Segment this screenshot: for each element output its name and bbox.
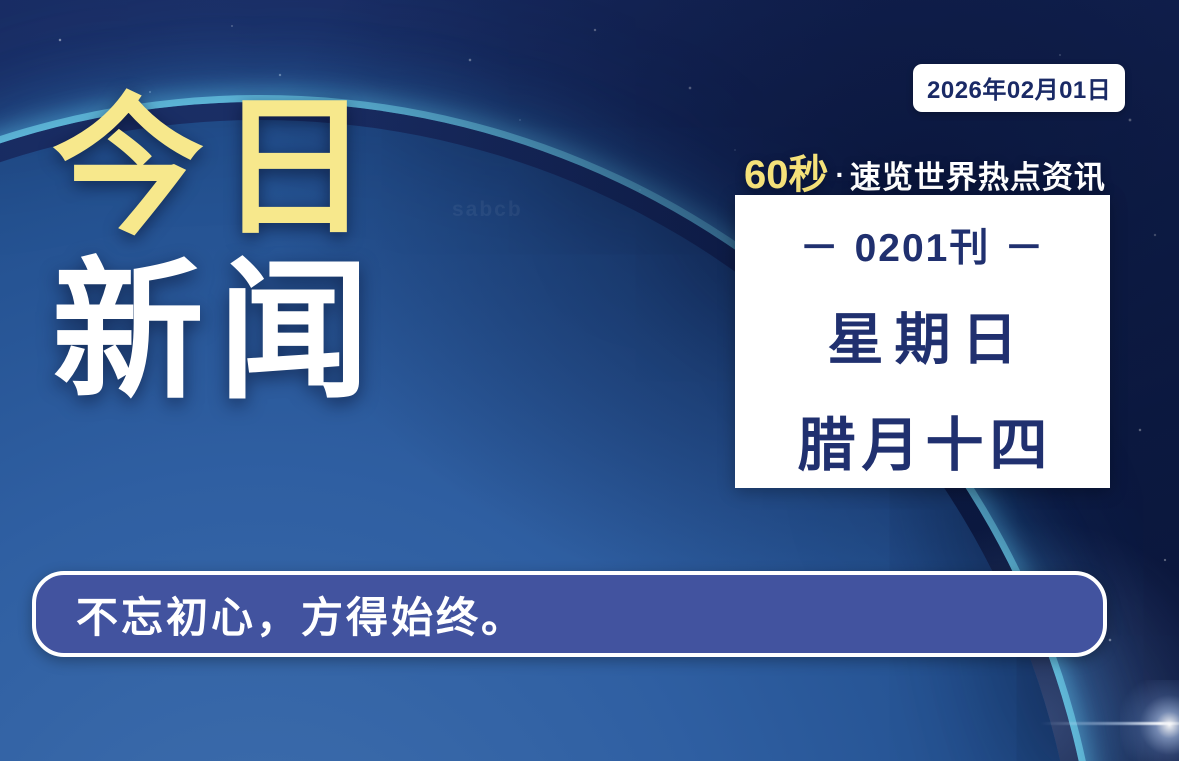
page-title-line-1: 今日: [52, 96, 472, 242]
news-card-canvas: sabcb 今日 新闻 2026年02月01日 60秒·速览世界热点资讯 －02…: [0, 0, 1179, 761]
page-title-line-2: 新闻: [52, 260, 472, 406]
tagline: 60秒·速览世界热点资讯: [744, 142, 1106, 200]
info-card: －0201刊－ 星期日 腊月十四: [735, 195, 1110, 488]
tagline-separator: ·: [836, 159, 845, 190]
issue-dash-left: －: [800, 217, 841, 273]
issue-dash-right: －: [1004, 217, 1045, 273]
quote-bar: 不忘初心，方得始终。: [32, 571, 1107, 657]
date-badge: 2026年02月01日: [913, 64, 1125, 112]
issue-number: 0201刊: [855, 227, 991, 270]
quote-text: 不忘初心，方得始终。: [76, 584, 526, 645]
page-title: 今日 新闻: [52, 96, 472, 406]
weekday-label: 星期日: [817, 295, 1029, 376]
issue-number-row: －0201刊－: [786, 217, 1060, 273]
lunar-date-label: 腊月十四: [791, 398, 1053, 482]
lens-flare-streak: [1040, 722, 1179, 725]
tagline-seconds: 60秒: [744, 153, 829, 197]
tagline-description: 速览世界热点资讯: [850, 160, 1106, 195]
